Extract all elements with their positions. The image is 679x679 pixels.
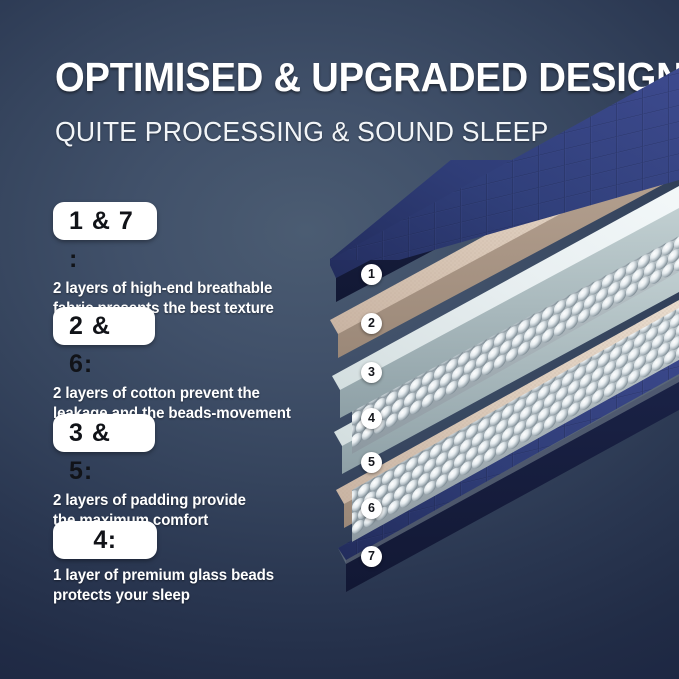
callout-chip-2: 2 & 6: bbox=[53, 307, 155, 345]
layer-badge-1: 1 bbox=[361, 264, 382, 285]
callout-block-1: 1 & 7 : 2 layers of high-end breathable … bbox=[53, 202, 281, 320]
layer-badge-5: 5 bbox=[361, 452, 382, 473]
layer-badge-6: 6 bbox=[361, 498, 382, 519]
layer-badge-3: 3 bbox=[361, 362, 382, 383]
callout-chip-4: 4: bbox=[53, 521, 157, 559]
callout-chip-3: 3 & 5: bbox=[53, 414, 155, 452]
infographic-root: OPTIMISED & UPGRADED DESIGN QUITE PROCES… bbox=[0, 0, 679, 679]
callout-description-4: 1 layer of premium glass beads protects … bbox=[53, 566, 274, 607]
layer-badge-2: 2 bbox=[361, 313, 382, 334]
callout-chip-1: 1 & 7 : bbox=[53, 202, 157, 240]
page-title: OPTIMISED & UPGRADED DESIGN bbox=[55, 56, 613, 99]
layer-badge-7: 7 bbox=[361, 546, 382, 567]
callout-block-3: 3 & 5: 2 layers of padding provide the m… bbox=[53, 414, 252, 532]
layer-badge-4: 4 bbox=[361, 408, 382, 429]
page-subtitle: QUITE PROCESSING & SOUND SLEEP bbox=[55, 117, 625, 148]
layered-mattress-diagram: 1 2 3 4 5 6 7 bbox=[330, 160, 679, 660]
callout-block-2: 2 & 6: 2 layers of cotton prevent the le… bbox=[53, 307, 298, 425]
callout-block-4: 4: 1 layer of premium glass beads protec… bbox=[53, 521, 281, 607]
